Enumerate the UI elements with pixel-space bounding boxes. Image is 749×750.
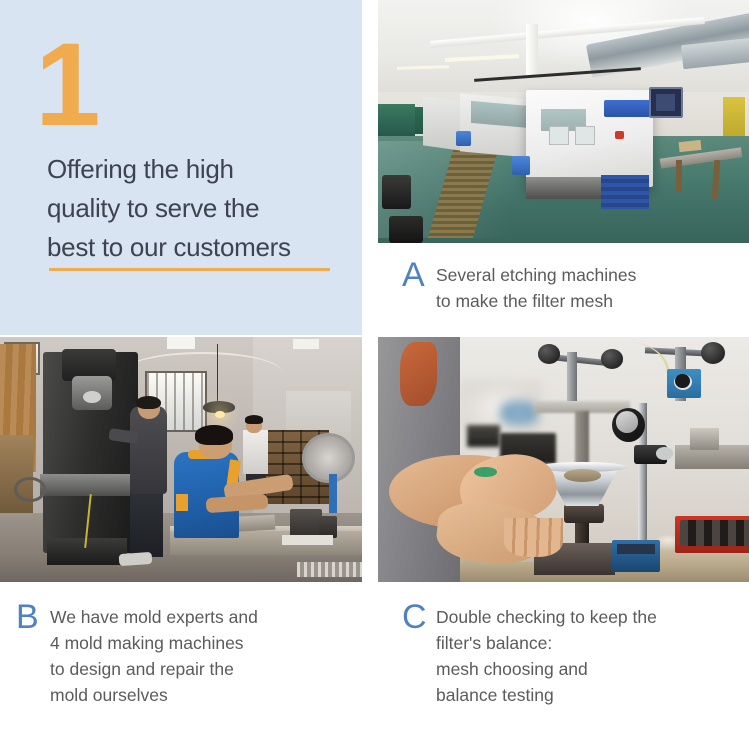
caption-a: A Several etching machines to make the f…	[402, 258, 636, 314]
floor-fan	[302, 433, 355, 483]
caption-letter-b: B	[16, 600, 50, 634]
caption-b: B We have mold experts and 4 mold making…	[16, 600, 258, 708]
caption-c-line-2: filter's balance:	[436, 630, 657, 656]
lamp-cord	[217, 344, 218, 403]
scene-balance-testing	[378, 337, 749, 582]
heading-underline	[49, 268, 330, 271]
cone-inner-mesh	[564, 469, 601, 481]
worker-2-hair	[195, 425, 233, 445]
worker-3-hair	[245, 415, 263, 424]
worker-1-legs	[130, 489, 163, 558]
milling-machine-base	[47, 538, 127, 565]
background-bench-leg	[575, 411, 590, 465]
caption-b-line-3: to design and repair the	[50, 656, 258, 682]
waste-bin-2	[389, 216, 422, 243]
shirt-print-graphic	[400, 342, 437, 406]
caption-a-line-2: to make the filter mesh	[436, 288, 636, 314]
fan-stand	[329, 474, 336, 516]
machine-inspection-window	[549, 126, 570, 145]
intro-heading-line-3: best to our customers	[47, 228, 343, 267]
mold-part	[290, 509, 323, 538]
blurred-blue-object	[500, 401, 537, 426]
photo-etching-machines	[378, 0, 749, 243]
green-wall-panel-2	[378, 104, 415, 136]
caption-c-text: Double checking to keep the filter's bal…	[436, 600, 657, 708]
caption-b-line-4: mold ourselves	[50, 682, 258, 708]
scene-mold-workshop	[0, 337, 362, 582]
intro-panel: 1 Offering the high quality to serve the…	[0, 0, 362, 335]
black-knob	[538, 344, 560, 364]
rail-block	[690, 428, 720, 450]
worker-2-sleeve-stripe-2	[176, 494, 189, 511]
milling-machine-table	[40, 474, 134, 496]
caption-b-line-1: We have mold experts and	[50, 604, 258, 630]
product-capability-collage: 1 Offering the high quality to serve the…	[0, 0, 749, 750]
filter-hub	[564, 504, 605, 524]
spindle-stem	[575, 521, 590, 543]
caption-letter-c: C	[402, 600, 436, 634]
caption-a-text: Several etching machines to make the fil…	[436, 258, 636, 314]
intro-heading: Offering the high quality to serve the b…	[47, 150, 343, 267]
caption-c-line-3: mesh choosing and	[436, 656, 657, 682]
clamp-knob	[656, 447, 673, 459]
mold-base-plate	[282, 535, 333, 545]
photo-balance-testing	[378, 337, 749, 582]
caption-c-line-4: balance testing	[436, 682, 657, 708]
caption-c-line-1: Double checking to keep the	[436, 604, 657, 630]
machine-inspection-window-2	[575, 126, 596, 145]
black-knob-3	[701, 342, 725, 364]
ceiling-post	[526, 24, 537, 77]
intro-heading-line-2: quality to serve the	[47, 189, 343, 228]
fixture-post	[567, 352, 577, 401]
blurred-dark-box-2	[467, 425, 500, 447]
photo-mold-workshop	[0, 337, 362, 582]
handwheel	[14, 477, 45, 503]
green-bracelet	[474, 467, 496, 477]
caption-b-text: We have mold experts and 4 mold making m…	[50, 600, 258, 708]
control-monitor	[649, 87, 683, 118]
worker-1-shoe	[119, 551, 152, 565]
worker-1-hair	[136, 396, 161, 409]
chemical-jug	[512, 156, 531, 175]
clerestory-window	[167, 337, 196, 349]
worker-fingers	[504, 518, 563, 557]
worker-3-shirt	[243, 430, 268, 474]
caption-a-line-1: Several etching machines	[436, 262, 636, 288]
step-number: 1	[35, 26, 99, 144]
caption-b-line-2: 4 mold making machines	[50, 630, 258, 656]
red-tool-tray	[675, 516, 749, 553]
hand-tools	[297, 562, 362, 577]
magnetic-base	[612, 540, 660, 572]
caption-c: C Double checking to keep the filter's b…	[402, 600, 657, 708]
scene-etching-hall	[378, 0, 749, 243]
ceiling-cable	[123, 352, 282, 393]
intro-heading-line-1: Offering the high	[47, 150, 343, 189]
caption-letter-a: A	[402, 258, 436, 292]
emergency-stop-button	[615, 131, 624, 139]
waste-bin	[382, 175, 412, 209]
chemical-jug-2	[456, 131, 471, 146]
table-leg-2	[676, 160, 682, 192]
blue-crate-stack	[601, 175, 649, 209]
clerestory-window-2	[293, 339, 318, 349]
gauge-knob	[675, 374, 690, 389]
light-bulb	[215, 411, 224, 418]
